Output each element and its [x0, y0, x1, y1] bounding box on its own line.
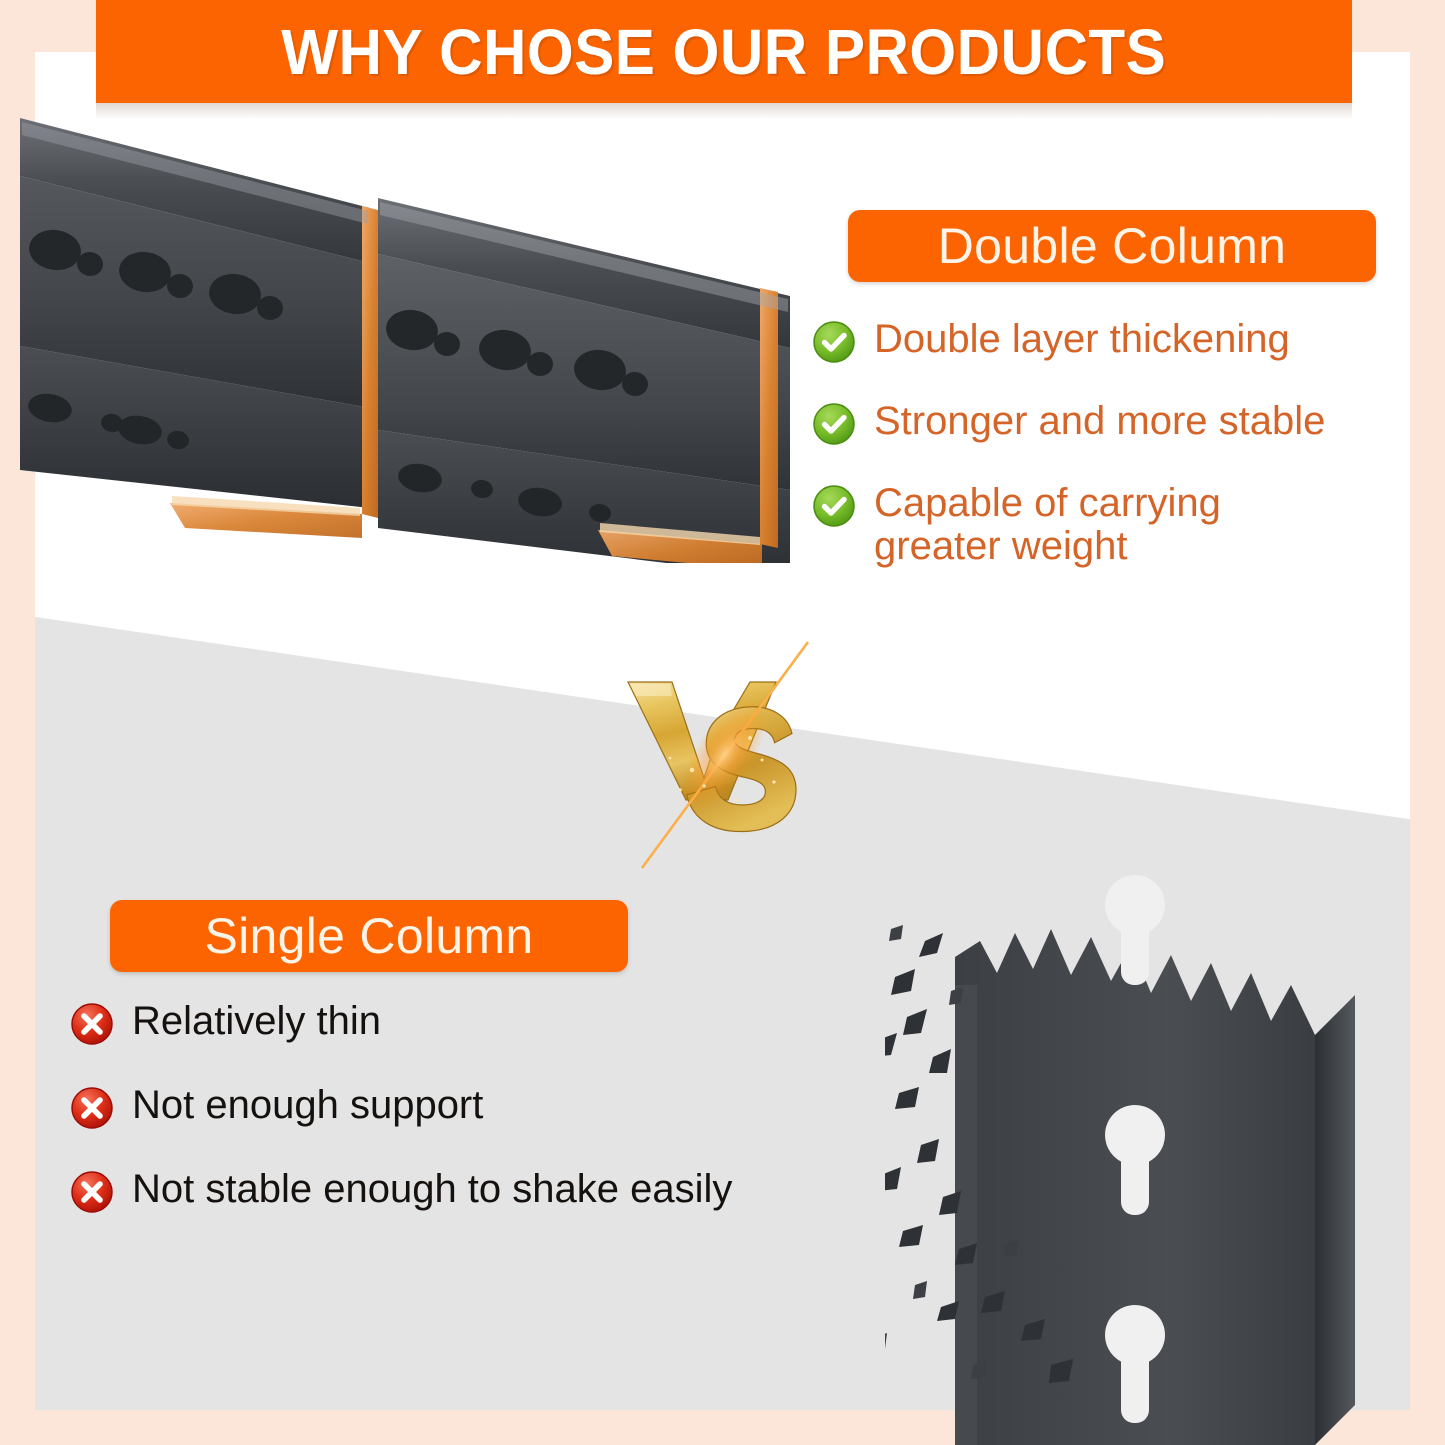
single-column-badge-label: Single Column [204, 907, 533, 965]
page-title: WHY CHOSE OUR PRODUCTS [282, 15, 1167, 89]
keyhole-slots [1097, 845, 1165, 1423]
list-item-label: Not enough support [132, 1084, 483, 1127]
post-body [955, 929, 1355, 1445]
list-item-label: Relatively thin [132, 1000, 381, 1043]
check-circle-icon [812, 402, 856, 446]
list-item-label: Stronger and more stable [874, 400, 1325, 443]
list-item: Double layer thickening [812, 318, 1412, 364]
double-column-product-image [0, 78, 800, 563]
infographic-root: WHY CHOSE OUR PRODUCTS Double Column [0, 0, 1445, 1445]
single-column-badge: Single Column [110, 900, 628, 972]
banner-shadow [96, 103, 1352, 119]
versus-emblem [600, 640, 850, 870]
list-item: Not stable enough to shake easily [70, 1168, 870, 1214]
broken-column-product-image [885, 845, 1445, 1445]
cross-circle-icon [70, 1170, 114, 1214]
pros-list: Double layer thickening S [812, 318, 1412, 604]
list-item: Capable of carrying greater weight [812, 482, 1412, 568]
list-item: Not enough support [70, 1084, 870, 1130]
list-item: Stronger and more stable [812, 400, 1412, 446]
cross-circle-icon [70, 1086, 114, 1130]
cons-list: Relatively thin Not enoug [70, 1000, 870, 1252]
list-item: Relatively thin [70, 1000, 870, 1046]
rear-beam [20, 118, 378, 538]
list-item-label: Not stable enough to shake easily [132, 1168, 732, 1211]
list-item-label: Capable of carrying greater weight [874, 482, 1221, 568]
double-column-badge-label: Double Column [938, 217, 1287, 275]
header-banner: WHY CHOSE OUR PRODUCTS [96, 0, 1352, 103]
check-circle-icon [812, 320, 856, 364]
list-item-label: Double layer thickening [874, 318, 1290, 361]
cross-circle-icon [70, 1002, 114, 1046]
double-column-badge: Double Column [848, 210, 1376, 282]
check-circle-icon [812, 484, 856, 528]
